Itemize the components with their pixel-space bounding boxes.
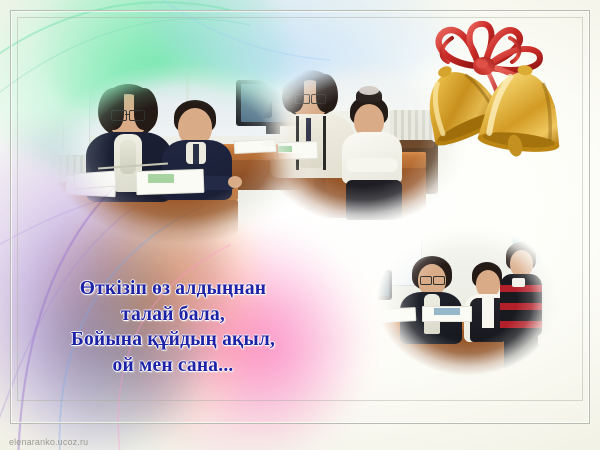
watermark: elenaranko.ucoz.ru — [9, 437, 88, 447]
greeting-card: Өткізіп өз алдыңнан талай бала, Бойына қ… — [0, 0, 600, 450]
card-frame-border — [10, 10, 590, 424]
card-frame-inner-border — [17, 17, 583, 401]
